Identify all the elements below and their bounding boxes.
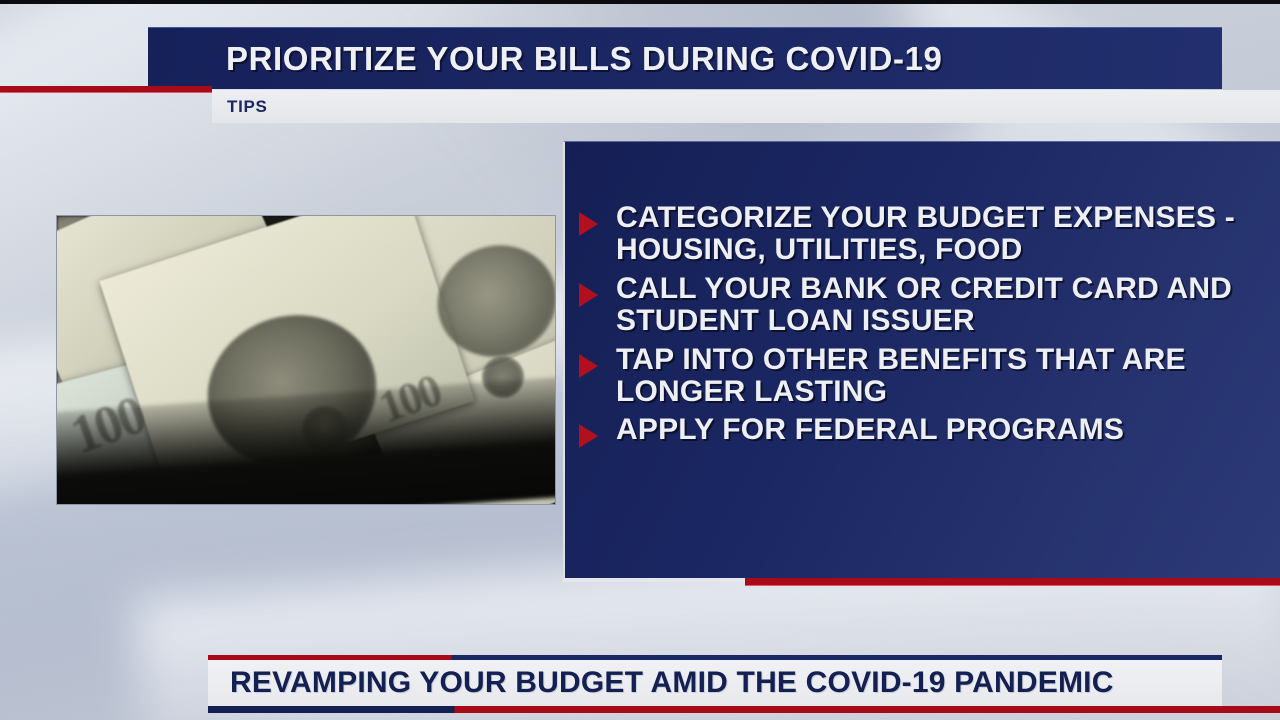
- list-item: TAP INTO OTHER BENEFITS THAT ARE LONGER …: [579, 344, 1252, 409]
- top-letterbox-bar: [0, 0, 1280, 4]
- triangle-right-icon: [579, 283, 598, 307]
- tip-text: APPLY FOR FEDERAL PROGRAMS: [616, 414, 1124, 446]
- broadcast-graphic-stage: PRIORITIZE YOUR BILLS DURING COVID-19 TI…: [0, 0, 1280, 720]
- ticker-bottom-accent-rule: [208, 706, 1280, 713]
- category-label: TIPS: [227, 97, 268, 117]
- triangle-right-icon: [579, 212, 598, 236]
- headline-red-accent-rule: [0, 86, 212, 92]
- list-item: APPLY FOR FEDERAL PROGRAMS: [579, 414, 1252, 448]
- category-banner: TIPS: [212, 90, 1280, 123]
- triangle-right-icon: [579, 354, 598, 378]
- lower-third-text: REVAMPING YOUR BUDGET AMID THE COVID-19 …: [230, 666, 1114, 700]
- tip-text: TAP INTO OTHER BENEFITS THAT ARE LONGER …: [616, 344, 1252, 409]
- tips-panel-red-rule: [745, 578, 1280, 585]
- tips-bullet-list: CATEGORIZE YOUR BUDGET EXPENSES - HOUSIN…: [579, 202, 1252, 448]
- headline-banner: PRIORITIZE YOUR BILLS DURING COVID-19: [148, 27, 1222, 89]
- tips-panel-light-rule: [563, 578, 745, 582]
- tip-text: CATEGORIZE YOUR BUDGET EXPENSES - HOUSIN…: [616, 202, 1252, 267]
- triangle-right-icon: [579, 424, 598, 448]
- list-item: CATEGORIZE YOUR BUDGET EXPENSES - HOUSIN…: [579, 202, 1252, 267]
- lower-third-ticker: REVAMPING YOUR BUDGET AMID THE COVID-19 …: [208, 660, 1222, 706]
- tip-text: CALL YOUR BANK OR CREDIT CARD AND STUDEN…: [616, 273, 1252, 338]
- money-photo: 100 100: [56, 215, 556, 505]
- tips-panel: CATEGORIZE YOUR BUDGET EXPENSES - HOUSIN…: [563, 141, 1280, 578]
- headline-text: PRIORITIZE YOUR BILLS DURING COVID-19: [226, 40, 943, 78]
- list-item: CALL YOUR BANK OR CREDIT CARD AND STUDEN…: [579, 273, 1252, 338]
